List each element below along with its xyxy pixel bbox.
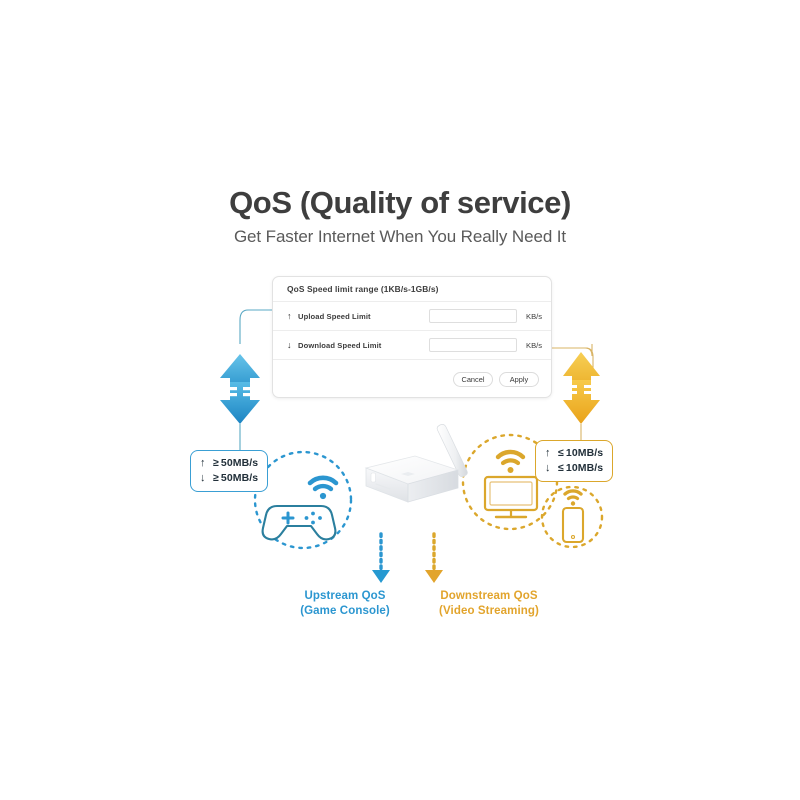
connector-line-right [552,344,592,356]
upload-speed-limit-input[interactable] [429,309,517,323]
downstream-upload-operator: ≤ [558,446,566,461]
cancel-button[interactable]: Cancel [453,372,493,387]
upstream-download-operator: ≥ [213,471,221,486]
arrowhead-downstream [425,570,443,583]
apply-button[interactable]: Apply [499,372,539,387]
downstream-speed-badge: ↑ ≤ 10MB/s ↓ ≤ 10MB/s [535,440,613,482]
download-speed-limit-label: Download Speed Limit [298,341,381,350]
upload-speed-unit: KB/s [517,312,551,321]
upstream-download-line: ↓ ≥ 50MB/s [200,471,258,486]
router-port [371,473,376,482]
dashed-circle-game-console [255,452,351,548]
download-speed-limit-input[interactable] [429,338,517,352]
arrowhead-upstream [372,570,390,583]
arrow-up-icon: ↑ [545,446,558,461]
arrow-up-icon: ↑ [200,456,213,471]
smartphone-icon [563,508,583,542]
qos-speed-limit-dialog[interactable]: QoS Speed limit range (1KB/s-1GB/s) ↑ Up… [272,276,552,398]
downstream-upload-line: ↑ ≤ 10MB/s [545,446,603,461]
arrow-down-icon: ↓ [200,471,213,486]
upstream-speed-badge: ↑ ≥ 50MB/s ↓ ≥ 50MB/s [190,450,268,492]
arrow-down-icon: ↓ [545,461,558,476]
upstream-caption-line1: Upstream QoS [272,589,418,604]
upload-speed-limit-row: ↑ Upload Speed Limit KB/s [273,302,551,331]
page-subtitle: Get Faster Internet When You Really Need… [0,227,800,247]
blue-up-down-arrow [220,354,260,424]
downstream-download-operator: ≤ [558,461,566,476]
upstream-upload-line: ↑ ≥ 50MB/s [200,456,258,471]
downstream-caption-line2: (Video Streaming) [412,604,566,619]
page-heading: QoS (Quality of service) Get Faster Inte… [0,186,800,247]
wifi-signal-game-console [310,478,336,499]
download-speed-unit: KB/s [517,341,551,350]
downstream-download-value: 10MB/s [566,461,603,476]
arrow-up-icon: ↑ [287,312,298,321]
arrow-down-icon: ↓ [287,341,298,350]
downstream-upload-value: 10MB/s [566,446,603,461]
orange-up-down-arrow [563,352,600,424]
connector-line-right-2 [552,348,593,372]
upstream-upload-value: 50MB/s [221,456,258,471]
dialog-footer: Cancel Apply [273,360,551,398]
upstream-caption: Upstream QoS (Game Console) [272,589,418,619]
dashed-circle-phone [542,487,602,547]
page-title: QoS (Quality of service) [0,186,800,220]
upstream-download-value: 50MB/s [221,471,258,486]
dialog-title: QoS Speed limit range (1KB/s-1GB/s) [273,277,551,302]
upstream-upload-operator: ≥ [213,456,221,471]
download-speed-limit-row: ↓ Download Speed Limit KB/s [273,331,551,360]
wifi-signal-phone [565,491,581,506]
wireless-router [352,418,512,528]
upload-speed-limit-label: Upload Speed Limit [298,312,371,321]
downstream-caption: Downstream QoS (Video Streaming) [412,589,566,619]
upstream-caption-line2: (Game Console) [272,604,418,619]
game-controller-icon [263,506,336,539]
downstream-download-line: ↓ ≤ 10MB/s [545,461,603,476]
downstream-caption-line1: Downstream QoS [412,589,566,604]
diagram-connectors [0,0,800,800]
connector-line-left [240,310,272,344]
